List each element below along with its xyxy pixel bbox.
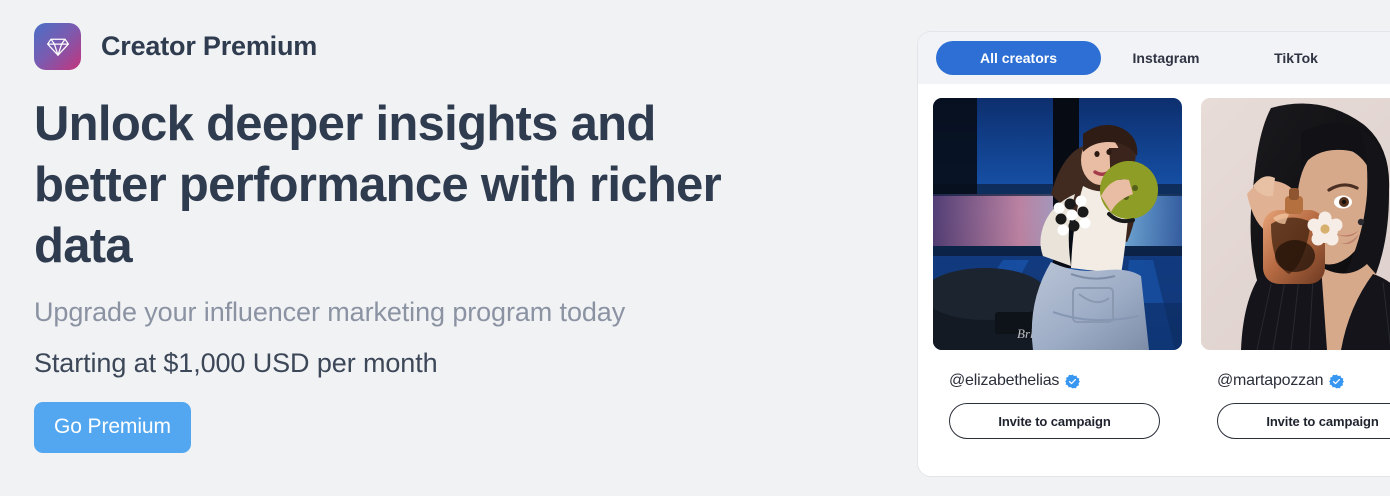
verified-badge-icon [1329,374,1344,389]
promo-column: Creator Premium Unlock deeper insights a… [34,22,864,453]
creator-filter-tabs: All creators Instagram TikTok [918,32,1390,84]
tab-tiktok[interactable]: TikTok [1231,41,1361,75]
creator-photo: Brln [933,98,1182,350]
creator-handle: @martapozzan [1217,372,1323,390]
tab-all-creators[interactable]: All creators [936,41,1101,75]
invite-to-campaign-button[interactable]: Invite to campaign [1217,403,1390,439]
premium-upsell-page: Creator Premium Unlock deeper insights a… [0,0,1390,496]
go-premium-button[interactable]: Go Premium [34,402,191,453]
creator-photo [1201,98,1390,350]
creator-identity: @martapozzan [1201,372,1390,390]
diamond-gem-icon [34,23,81,70]
promo-subhead: Upgrade your influencer marketing progra… [34,295,864,329]
verified-badge-icon [1065,374,1080,389]
creator-identity: @elizabethelias [933,372,1182,390]
promo-headline: Unlock deeper insights and better perfor… [34,94,794,277]
invite-to-campaign-button[interactable]: Invite to campaign [949,403,1160,439]
creator-cards-list: Brln [918,84,1390,477]
tab-instagram[interactable]: Instagram [1101,41,1231,75]
page-title: Creator Premium [101,31,317,62]
creator-card[interactable]: Brln [933,98,1182,477]
creators-preview-panel: All creators Instagram TikTok [917,31,1390,477]
creator-handle: @elizabethelias [949,372,1059,390]
promo-price: Starting at $1,000 USD per month [34,346,864,380]
creator-card[interactable]: @martapozzan Invite to campaign [1201,98,1390,477]
brand-row: Creator Premium [34,22,864,70]
